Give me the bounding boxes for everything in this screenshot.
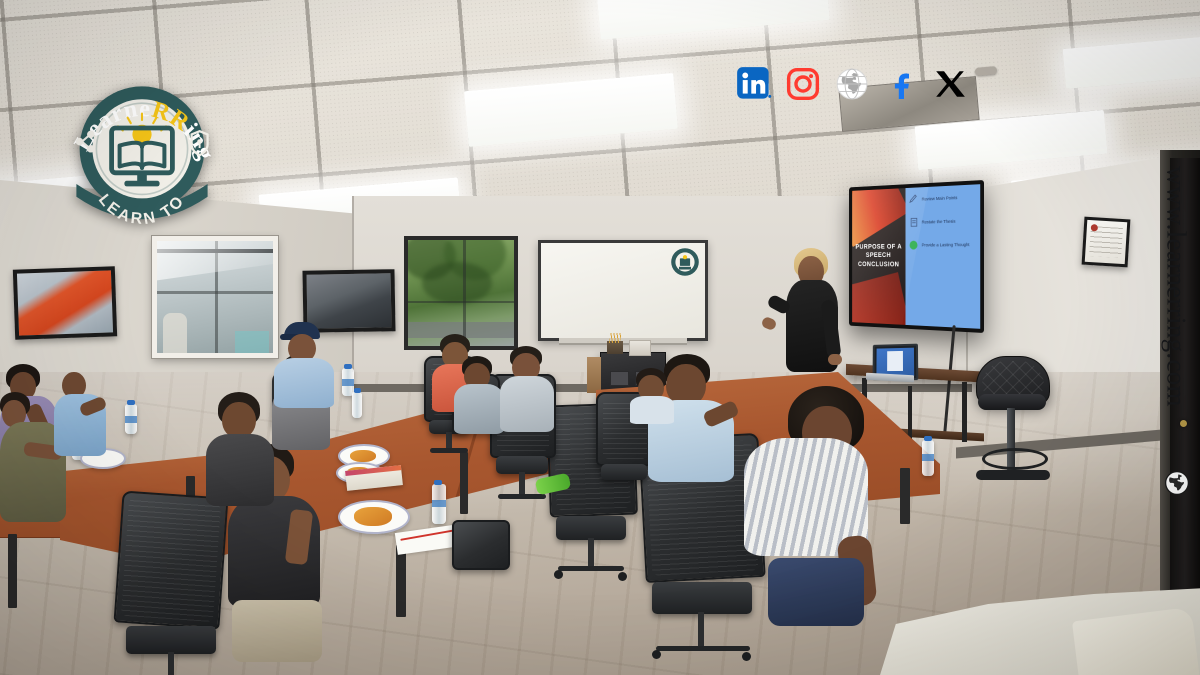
drafting-stool-base <box>976 470 1050 480</box>
table-leg <box>396 545 406 617</box>
student <box>744 386 874 638</box>
learnerring-logo-icon <box>670 247 700 277</box>
linkedin-icon[interactable] <box>735 65 773 103</box>
presenter <box>762 248 862 396</box>
globe-icon <box>1164 470 1190 496</box>
learnerring-logo: LearneRRing <box>62 72 222 232</box>
paper-plate <box>338 500 410 534</box>
table-leg <box>8 534 17 608</box>
slide-bullet-text: Review Main Points <box>922 195 958 201</box>
slide-bullet: Provide a Lasting Thought <box>909 239 977 250</box>
slide-bullet-text: Restate the Thesis <box>922 219 956 225</box>
website-url[interactable]: www.learnerring.com <box>1156 166 1196 496</box>
student <box>500 346 556 432</box>
whiteboard <box>538 240 708 341</box>
student <box>454 356 506 434</box>
student <box>630 368 676 424</box>
presentation-screen: PURPOSE OF A SPEECH CONCLUSION Review Ma… <box>849 180 984 333</box>
presenter-hand-left <box>760 316 777 331</box>
slide-bullet-text: Provide a Lasting Thought <box>922 242 970 247</box>
pencil-cup <box>609 333 621 343</box>
drafting-stool-footring <box>982 448 1048 470</box>
globe-icon[interactable] <box>833 65 871 103</box>
table-leg <box>900 468 910 524</box>
student-with-cap <box>274 322 336 408</box>
water-bottle <box>922 440 934 476</box>
website-url-text: www.learnerring.com <box>1161 166 1192 407</box>
social-bar <box>735 58 969 110</box>
interior-window <box>152 236 278 358</box>
x-twitter-icon[interactable] <box>931 65 969 103</box>
presenter-hand-right <box>828 354 842 365</box>
facebook-icon[interactable] <box>882 65 920 103</box>
instagram-icon[interactable] <box>784 65 822 103</box>
table-leg <box>460 452 468 514</box>
water-bottle <box>352 392 362 418</box>
water-bottle <box>125 404 137 434</box>
certificate-frame <box>1082 217 1131 268</box>
student <box>206 392 278 504</box>
student <box>54 372 110 456</box>
exterior-window <box>404 236 518 350</box>
screenshot-root: PURPOSE OF A SPEECH CONCLUSION Review Ma… <box>0 0 1200 675</box>
desk-leg <box>962 382 967 442</box>
water-bottle <box>432 484 446 524</box>
helicopter-photo <box>13 266 117 340</box>
